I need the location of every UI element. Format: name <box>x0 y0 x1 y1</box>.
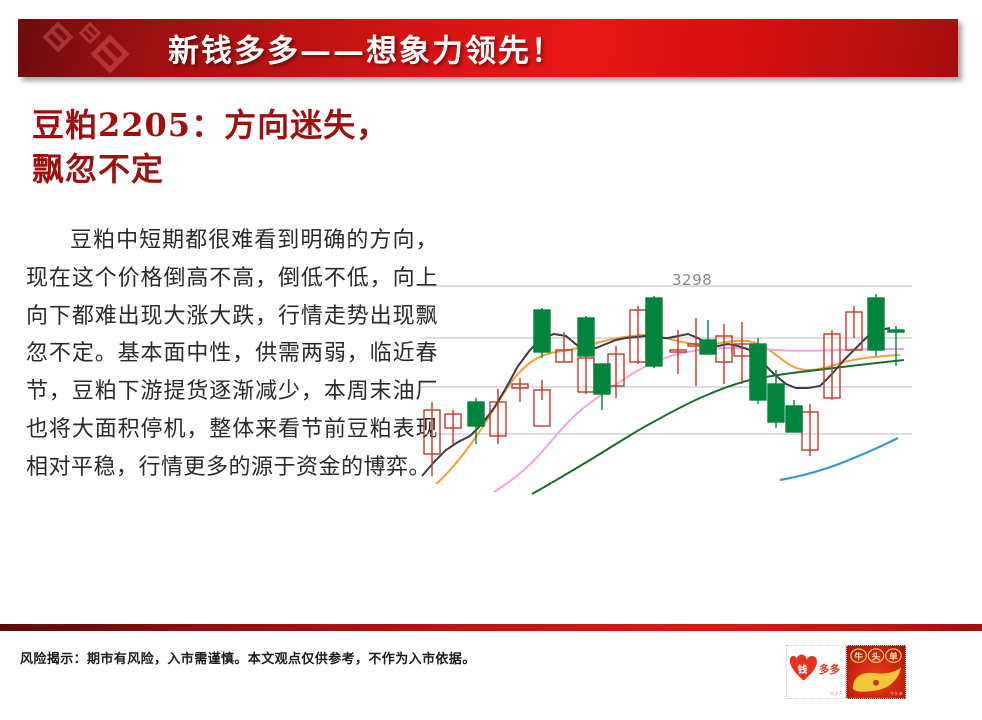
price-chart: 3298 <box>420 258 920 508</box>
candlestick-chart-svg <box>420 258 920 508</box>
slide-root: 新钱多多——想象力领先！ 豆粕2205：方向迷失， 飘忽不定 豆粕中短期都很难看… <box>0 0 982 720</box>
svg-text:钱: 钱 <box>798 664 808 676</box>
logo-corner-mark: 牛头单 <box>890 691 903 697</box>
logo-group: 钱 多多 钱多多 牛 头 单 牛头单 <box>786 645 910 701</box>
risk-disclaimer: 风险揭示：期市有风险，入市需谨慎。本文观点仅供参考，不作为入市依据。 <box>20 648 476 667</box>
qianduoduo-logo: 钱 多多 钱多多 <box>786 645 846 699</box>
page-title-line1: 豆粕2205：方向迷失， <box>32 104 452 148</box>
logo-corner-mark: 钱多多 <box>830 691 843 697</box>
svg-text:单: 单 <box>889 651 898 663</box>
price-annotation-3298: 3298 <box>672 271 712 289</box>
body-paragraph: 豆粕中短期都很难看到明确的方向，现在这个价格倒高不高，倒低不低，向上向下都难出现… <box>26 222 438 487</box>
svg-text:多多: 多多 <box>819 663 841 676</box>
header-banner: 新钱多多——想象力领先！ <box>18 19 958 77</box>
ma-green-line <box>532 360 904 494</box>
ma-pink-line <box>494 348 904 492</box>
banner-title: 新钱多多——想象力领先！ <box>168 26 564 71</box>
page-title: 豆粕2205：方向迷失， 飘忽不定 <box>32 104 452 191</box>
ma-blue-line <box>780 438 898 480</box>
chart-gridlines <box>420 286 912 434</box>
footer-divider <box>0 624 982 631</box>
svg-text:牛: 牛 <box>854 651 863 663</box>
chinese-knot-icon <box>28 21 146 75</box>
candlestick-series <box>424 294 904 476</box>
niutoudan-logo: 牛 头 单 牛头单 <box>846 645 906 699</box>
svg-text:头: 头 <box>872 651 881 663</box>
page-title-line2: 飘忽不定 <box>32 148 452 192</box>
